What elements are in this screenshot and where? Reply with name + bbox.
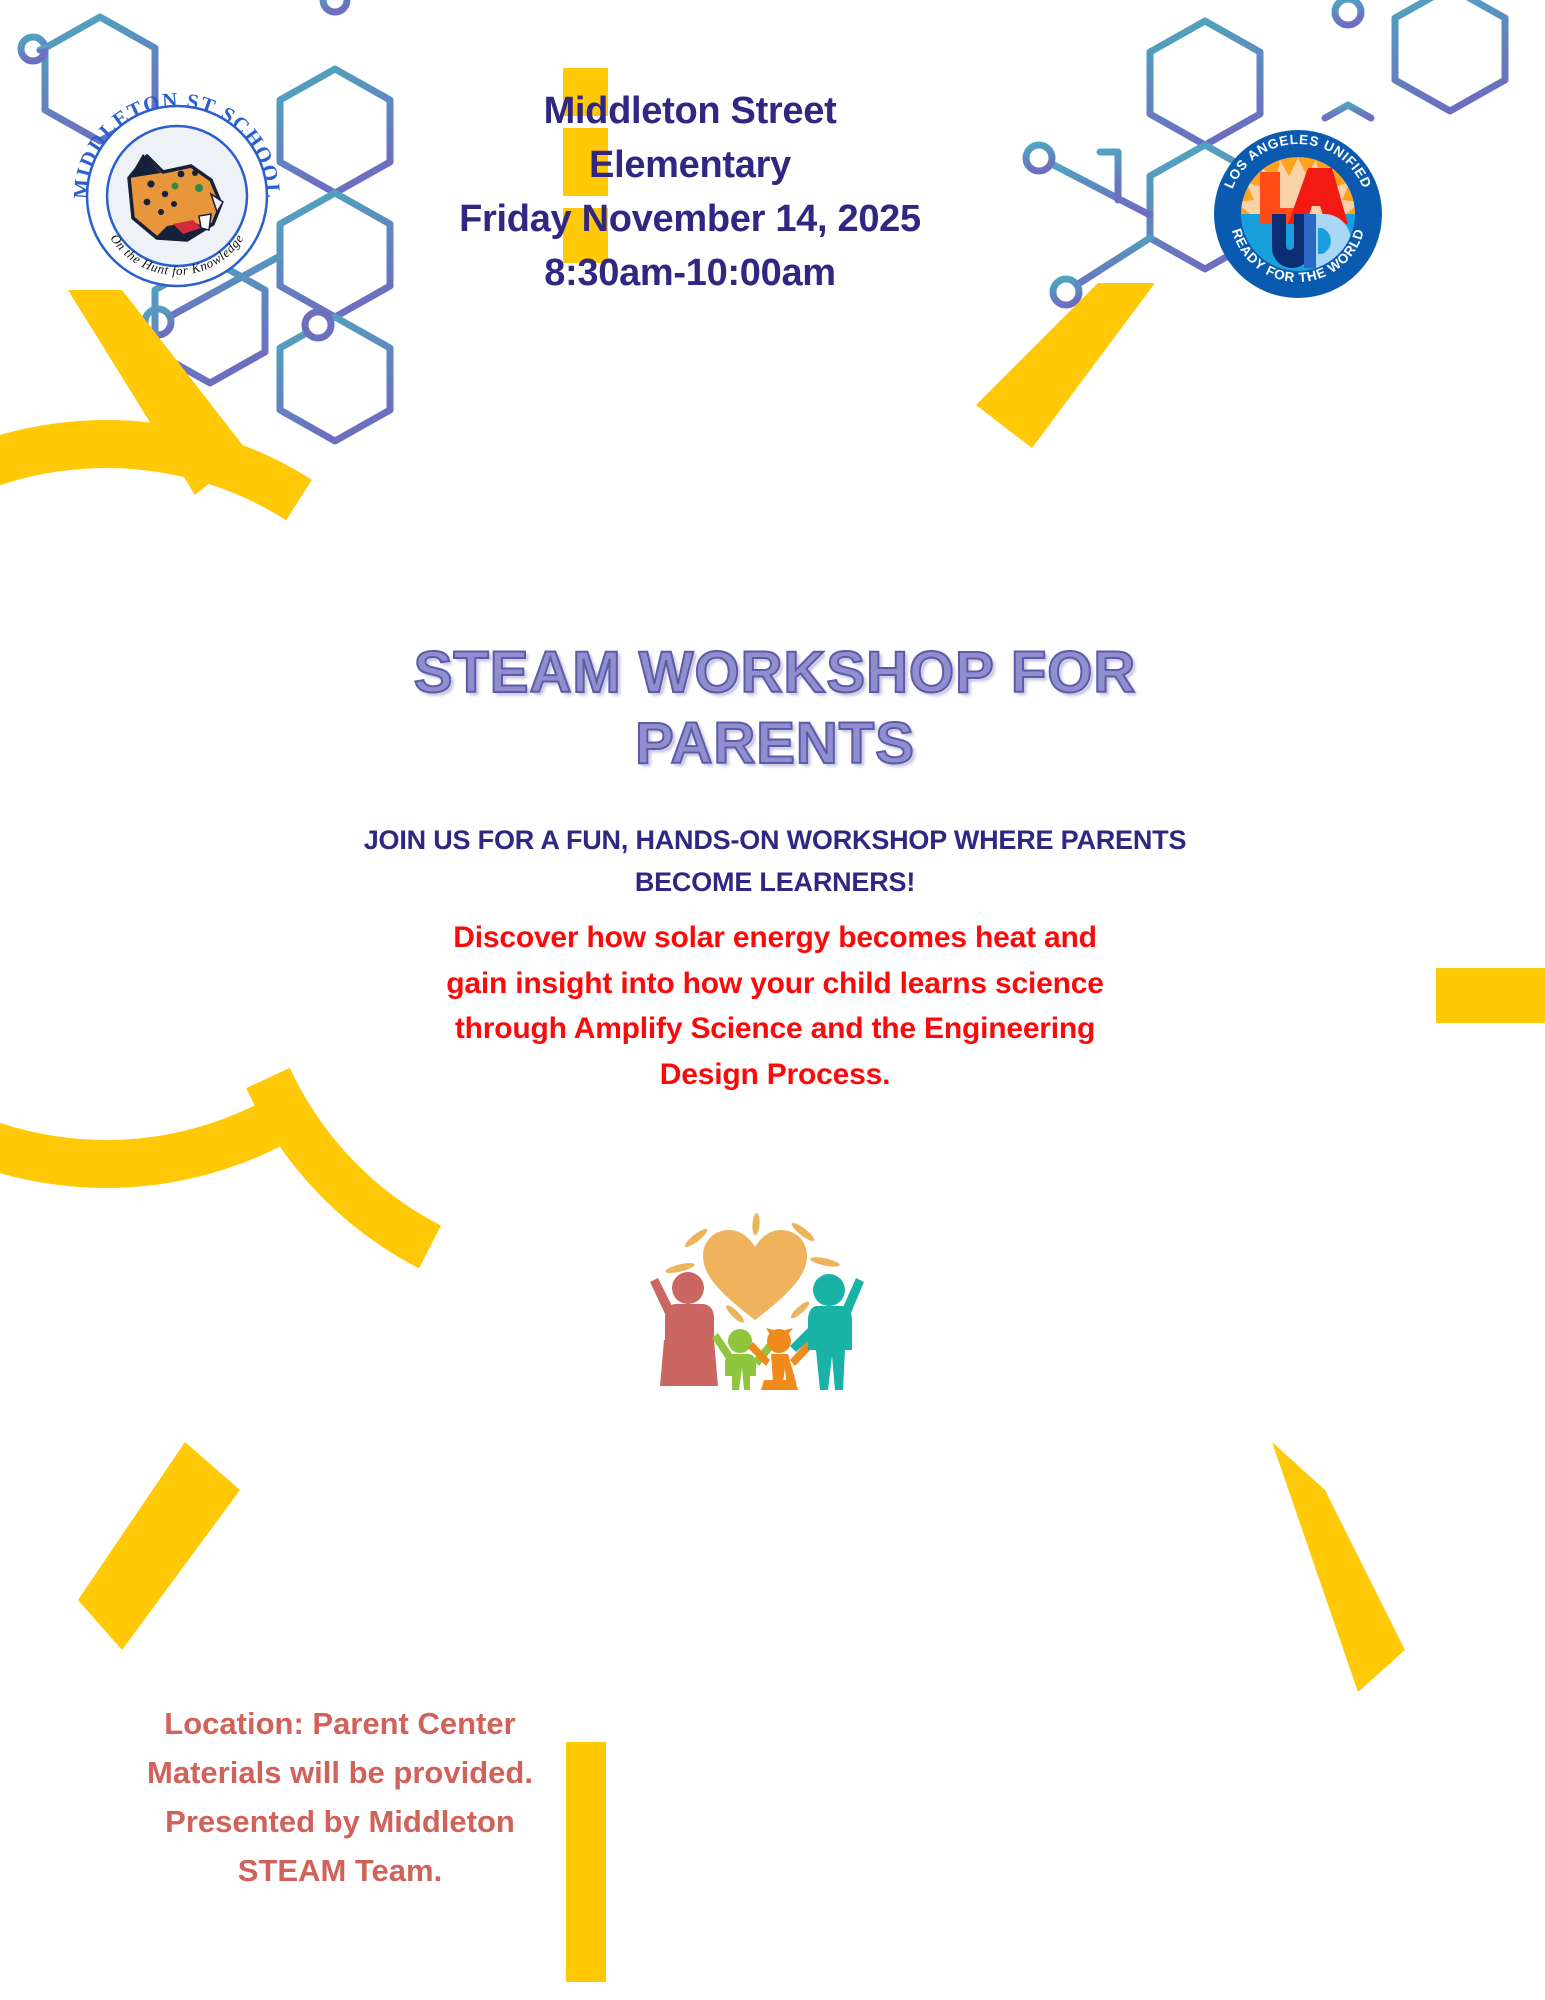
subtitle-line-1: JOIN US FOR A FUN, HANDS-ON WORKSHOP WHE… bbox=[250, 820, 1300, 862]
figure-father bbox=[790, 1274, 864, 1390]
body-line-1: Discover how solar energy becomes heat a… bbox=[330, 915, 1220, 961]
header-line-time: 8:30am-10:00am bbox=[430, 247, 950, 301]
location-details: Location: Parent Center Materials will b… bbox=[105, 1700, 575, 1896]
subtitle-line-2: BECOME LEARNERS! bbox=[250, 862, 1300, 904]
heart-shape bbox=[703, 1230, 807, 1320]
body-description: Discover how solar energy becomes heat a… bbox=[330, 915, 1220, 1097]
title-line-1: STEAM WORKSHOP FOR bbox=[270, 638, 1280, 709]
body-line-3: through Amplify Science and the Engineer… bbox=[330, 1006, 1220, 1052]
location-line-2: Materials will be provided. bbox=[105, 1749, 575, 1798]
header-line-date: Friday November 14, 2025 bbox=[430, 193, 950, 247]
subtitle-text: JOIN US FOR A FUN, HANDS-ON WORKSHOP WHE… bbox=[250, 820, 1300, 904]
location-line-4: STEAM Team. bbox=[105, 1847, 575, 1896]
flyer-header: MIDDLETON ST SCHOOL On the Hunt for Know… bbox=[0, 0, 1545, 330]
figure-mother bbox=[650, 1272, 718, 1386]
location-line-3: Presented by Middleton bbox=[105, 1798, 575, 1847]
body-line-2: gain insight into how your child learns … bbox=[330, 961, 1220, 1007]
header-line-school2: Elementary bbox=[430, 139, 950, 193]
event-header-text: Middleton Street Elementary Friday Novem… bbox=[430, 85, 950, 301]
flyer-canvas: MIDDLETON ST SCHOOL On the Hunt for Know… bbox=[0, 0, 1545, 2000]
title-line-2: PARENTS bbox=[270, 709, 1280, 780]
lausd-seal: LOS ANGELES UNIFIED READY FOR THE WORLD bbox=[1212, 128, 1384, 300]
location-line-1: Location: Parent Center bbox=[105, 1700, 575, 1749]
middleton-st-school-seal: MIDDLETON ST SCHOOL On the Hunt for Know… bbox=[62, 88, 292, 288]
page-title: STEAM WORKSHOP FOR PARENTS bbox=[270, 638, 1280, 780]
header-line-school: Middleton Street bbox=[430, 85, 950, 139]
body-line-4: Design Process. bbox=[330, 1052, 1220, 1098]
family-with-heart-icon bbox=[640, 1190, 870, 1395]
